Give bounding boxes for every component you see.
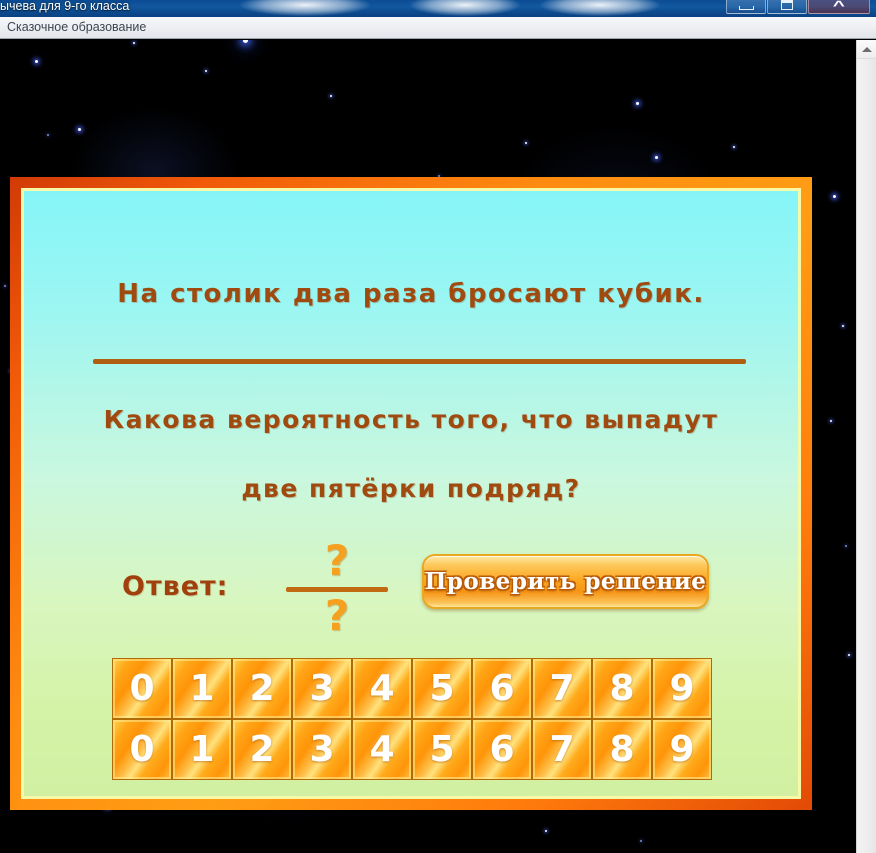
- slide-content: На столик два раза бросают кубик. Какова…: [21, 188, 801, 799]
- digit-key-6[interactable]: 6: [472, 658, 532, 719]
- vertical-scrollbar[interactable]: [856, 40, 876, 853]
- fraction-denominator[interactable]: ?: [272, 594, 402, 638]
- digit-key-label: 6: [489, 732, 514, 768]
- digit-key-3[interactable]: 3: [292, 719, 352, 780]
- digit-key-1[interactable]: 1: [172, 658, 232, 719]
- keypad-row-denominator: 0 1 2 3 4 5 6 7 8 9: [112, 719, 712, 780]
- minimize-button[interactable]: [726, 0, 766, 14]
- digit-key-label: 1: [189, 732, 214, 768]
- digit-key-6[interactable]: 6: [472, 719, 532, 780]
- answer-label: Ответ:: [122, 571, 228, 602]
- digit-key-label: 8: [609, 732, 634, 768]
- digit-key-label: 3: [309, 671, 334, 707]
- digit-key-5[interactable]: 5: [412, 719, 472, 780]
- check-solution-button-label: Проверить решение: [425, 568, 707, 595]
- digit-key-label: 8: [609, 671, 634, 707]
- answer-row: Ответ: ? ? Проверить решение: [24, 546, 798, 638]
- content-viewport: На столик два раза бросают кубик. Какова…: [0, 40, 856, 853]
- maximize-icon: [781, 0, 793, 10]
- digit-keypad: 0 1 2 3 4 5 6 7 8 9 0 1 2: [112, 658, 712, 780]
- question-line-2: Какова вероятность того, что выпадут: [24, 405, 798, 434]
- scroll-up-button[interactable]: [857, 40, 876, 59]
- maximize-button[interactable]: [767, 0, 807, 14]
- digit-key-label: 7: [549, 732, 574, 768]
- keypad-row-numerator: 0 1 2 3 4 5 6 7 8 9: [112, 658, 712, 719]
- digit-key-4[interactable]: 4: [352, 719, 412, 780]
- digit-key-2[interactable]: 2: [232, 658, 292, 719]
- digit-key-label: 2: [249, 732, 274, 768]
- digit-key-9[interactable]: 9: [652, 719, 712, 780]
- application-window: ычева для 9-го класса ^ Сказочное образо…: [0, 0, 876, 853]
- check-solution-button[interactable]: Проверить решение: [422, 554, 709, 609]
- close-icon: ^: [833, 1, 845, 11]
- digit-key-8[interactable]: 8: [592, 719, 652, 780]
- title-bar-gloss: [410, 0, 520, 16]
- digit-key-2[interactable]: 2: [232, 719, 292, 780]
- digit-key-label: 0: [129, 732, 154, 768]
- divider-rule: [93, 359, 746, 364]
- digit-key-8[interactable]: 8: [592, 658, 652, 719]
- digit-key-label: 1: [189, 671, 214, 707]
- close-button[interactable]: ^: [808, 0, 870, 14]
- status-bar-text: Сказочное образование: [7, 20, 146, 34]
- digit-key-label: 5: [429, 732, 454, 768]
- title-bar: ычева для 9-го класса ^: [0, 0, 876, 17]
- digit-key-5[interactable]: 5: [412, 658, 472, 719]
- question-line-3: две пятёрки подряд?: [24, 474, 798, 503]
- status-bar: Сказочное образование: [0, 17, 876, 39]
- digit-key-7[interactable]: 7: [532, 719, 592, 780]
- minimize-icon: [739, 6, 754, 10]
- fraction-numerator[interactable]: ?: [272, 539, 402, 583]
- digit-key-label: 9: [669, 671, 694, 707]
- answer-fraction: ? ?: [272, 539, 402, 638]
- question-line-1: На столик два раза бросают кубик.: [24, 279, 798, 309]
- slide-frame: На столик два раза бросают кубик. Какова…: [10, 177, 812, 810]
- digit-key-label: 6: [489, 671, 514, 707]
- digit-key-3[interactable]: 3: [292, 658, 352, 719]
- digit-key-label: 3: [309, 732, 334, 768]
- digit-key-0[interactable]: 0: [112, 719, 172, 780]
- chevron-up-icon: [862, 47, 872, 52]
- digit-key-label: 5: [429, 671, 454, 707]
- digit-key-label: 4: [369, 671, 394, 707]
- digit-key-label: 0: [129, 671, 154, 707]
- digit-key-label: 4: [369, 732, 394, 768]
- window-controls: ^: [726, 0, 870, 14]
- title-bar-gloss: [540, 0, 660, 16]
- digit-key-7[interactable]: 7: [532, 658, 592, 719]
- digit-key-label: 7: [549, 671, 574, 707]
- digit-key-0[interactable]: 0: [112, 658, 172, 719]
- window-title: ычева для 9-го класса: [0, 0, 129, 15]
- title-bar-gloss: [240, 0, 370, 16]
- digit-key-label: 2: [249, 671, 274, 707]
- digit-key-9[interactable]: 9: [652, 658, 712, 719]
- digit-key-1[interactable]: 1: [172, 719, 232, 780]
- digit-key-4[interactable]: 4: [352, 658, 412, 719]
- digit-key-label: 9: [669, 732, 694, 768]
